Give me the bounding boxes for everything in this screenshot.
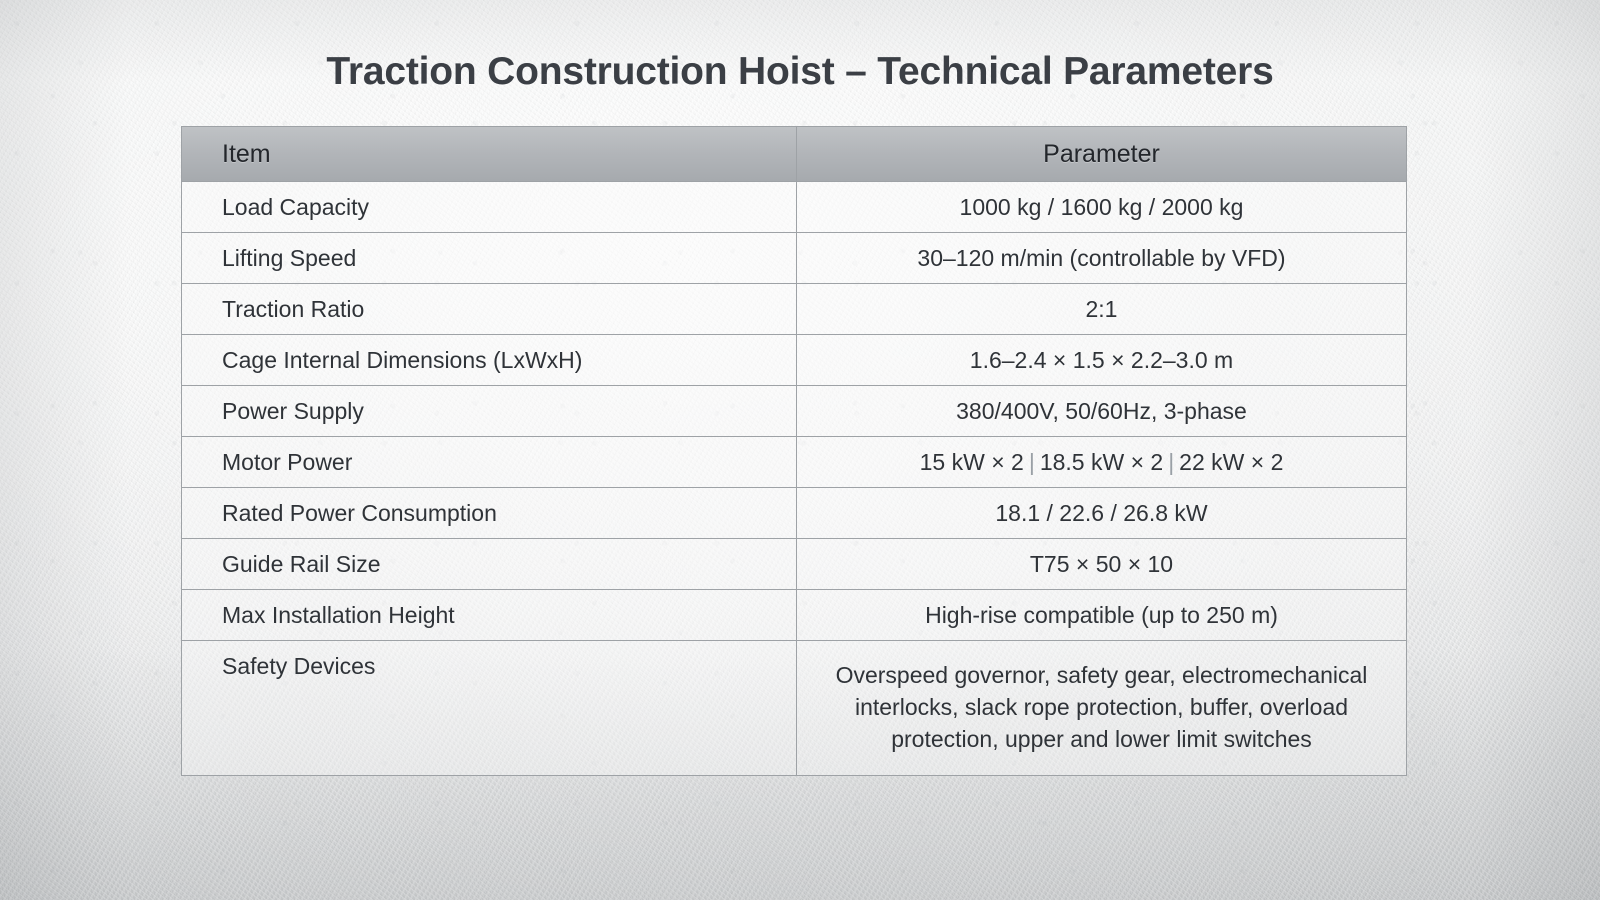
table-row: Power Supply 380/400V, 50/60Hz, 3-phase (182, 386, 1407, 437)
row-label-rated-power-consumption: Rated Power Consumption (182, 488, 797, 539)
table-row: Lifting Speed 30–120 m/min (controllable… (182, 233, 1407, 284)
row-value-max-installation-height: High-rise compatible (up to 250 m) (797, 590, 1407, 641)
spec-table-container: Item Parameter Load Capacity 1000 kg / 1… (181, 126, 1407, 776)
table-header-row: Item Parameter (182, 127, 1407, 182)
column-header-item: Item (182, 127, 797, 182)
spec-table: Item Parameter Load Capacity 1000 kg / 1… (181, 126, 1407, 776)
table-body: Load Capacity 1000 kg / 1600 kg / 2000 k… (182, 182, 1407, 776)
motor-power-separator: | (1024, 449, 1040, 475)
row-value-power-supply: 380/400V, 50/60Hz, 3-phase (797, 386, 1407, 437)
table-row: Max Installation Height High-rise compat… (182, 590, 1407, 641)
slide-canvas: Traction Construction Hoist – Technical … (0, 0, 1600, 900)
table-row: Traction Ratio 2:1 (182, 284, 1407, 335)
row-value-safety-devices: Overspeed governor, safety gear, electro… (797, 641, 1407, 776)
row-value-lifting-speed: 30–120 m/min (controllable by VFD) (797, 233, 1407, 284)
row-label-traction-ratio: Traction Ratio (182, 284, 797, 335)
row-label-lifting-speed: Lifting Speed (182, 233, 797, 284)
row-value-rated-power-consumption: 18.1 / 22.6 / 26.8 kW (797, 488, 1407, 539)
motor-power-option-1: 15 kW × 2 (920, 449, 1024, 475)
row-value-guide-rail-size: T75 × 50 × 10 (797, 539, 1407, 590)
motor-power-option-3: 22 kW × 2 (1179, 449, 1283, 475)
page-title: Traction Construction Hoist – Technical … (0, 50, 1600, 94)
motor-power-option-2: 18.5 kW × 2 (1040, 449, 1163, 475)
table-row: Rated Power Consumption 18.1 / 22.6 / 26… (182, 488, 1407, 539)
row-label-cage-internal-dimensions: Cage Internal Dimensions (LxWxH) (182, 335, 797, 386)
column-header-parameter: Parameter (797, 127, 1407, 182)
row-label-motor-power: Motor Power (182, 437, 797, 488)
row-label-guide-rail-size: Guide Rail Size (182, 539, 797, 590)
row-label-max-installation-height: Max Installation Height (182, 590, 797, 641)
row-value-motor-power: 15 kW × 2|18.5 kW × 2|22 kW × 2 (797, 437, 1407, 488)
table-header: Item Parameter (182, 127, 1407, 182)
table-row: Cage Internal Dimensions (LxWxH) 1.6–2.4… (182, 335, 1407, 386)
table-row: Load Capacity 1000 kg / 1600 kg / 2000 k… (182, 182, 1407, 233)
row-value-traction-ratio: 2:1 (797, 284, 1407, 335)
row-label-safety-devices: Safety Devices (182, 641, 797, 776)
row-label-load-capacity: Load Capacity (182, 182, 797, 233)
table-row: Motor Power 15 kW × 2|18.5 kW × 2|22 kW … (182, 437, 1407, 488)
table-row: Safety Devices Overspeed governor, safet… (182, 641, 1407, 776)
motor-power-separator: | (1163, 449, 1179, 475)
row-label-power-supply: Power Supply (182, 386, 797, 437)
row-value-cage-internal-dimensions: 1.6–2.4 × 1.5 × 2.2–3.0 m (797, 335, 1407, 386)
row-value-load-capacity: 1000 kg / 1600 kg / 2000 kg (797, 182, 1407, 233)
table-row: Guide Rail Size T75 × 50 × 10 (182, 539, 1407, 590)
